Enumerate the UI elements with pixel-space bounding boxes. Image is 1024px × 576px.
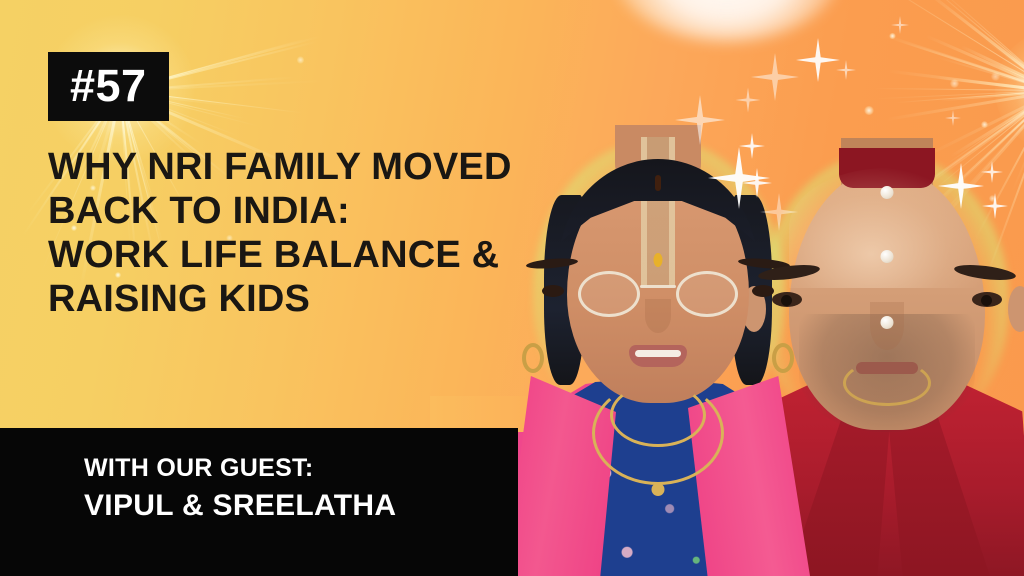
kurta-button-2 [881,250,894,263]
guest-banner: WITH OUR GUEST: VIPUL & SREELATHA [0,428,518,576]
mouth-smile [629,345,687,367]
mouth [856,362,918,374]
bindi-icon [654,253,663,267]
guest-photos [498,0,1024,576]
eye-right [752,285,774,297]
background-wedge [430,396,526,432]
episode-number-badge: #57 [48,52,169,121]
eye-right [972,292,1002,307]
eye-left [772,292,802,307]
headline-block: #57 WHY NRI FAMILY MOVED BACK TO INDIA: … [48,52,568,321]
guest-text-block: WITH OUR GUEST: VIPUL & SREELATHA [84,454,396,523]
ear-right [1008,286,1024,332]
page-title: WHY NRI FAMILY MOVED BACK TO INDIA: WORK… [48,145,568,321]
lens-left [578,271,640,317]
video-thumbnail: #57 WHY NRI FAMILY MOVED BACK TO INDIA: … [0,0,1024,576]
kurta-button-3 [881,316,894,329]
earring-right [772,343,794,373]
lens-right [676,271,738,317]
hair-parting [655,175,661,191]
guest-names: VIPUL & SREELATHA [84,488,396,523]
glasses-bridge [640,285,676,288]
eyeglasses-icon [578,271,738,317]
necklace-pendant [652,483,665,496]
guest-label: WITH OUR GUEST: [84,454,396,484]
necklace-outer [592,381,724,485]
kurta-button-1 [881,186,894,199]
earring-left [522,343,544,373]
